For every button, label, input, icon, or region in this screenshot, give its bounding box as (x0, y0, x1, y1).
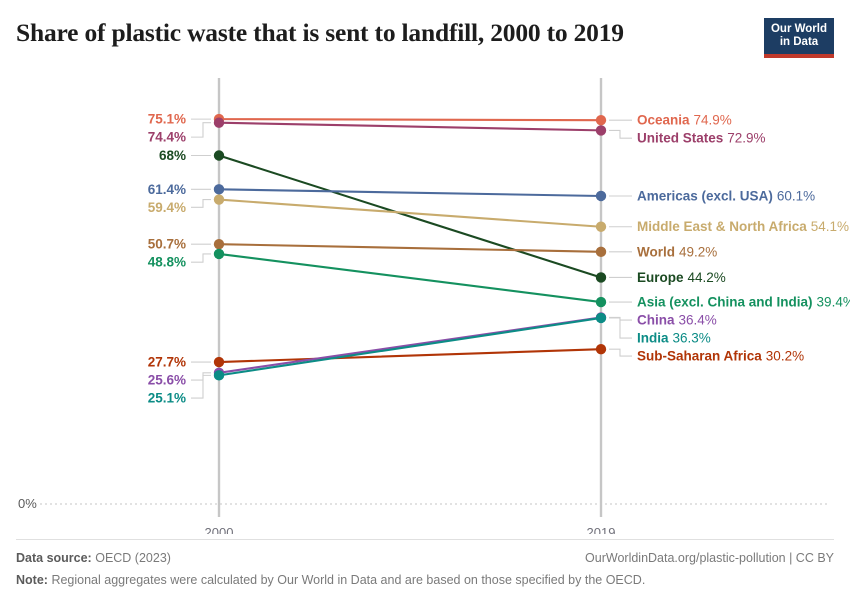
series-name: India (637, 331, 669, 346)
left-value-labels: 75.1%74.4%68%61.4%59.4%50.7%48.8%27.7%25… (148, 112, 211, 406)
series-value: 36.3% (673, 331, 711, 346)
series-value: 36.4% (679, 313, 717, 328)
right-series-label[interactable]: China36.4% (637, 313, 717, 328)
left-label-connector (191, 254, 211, 262)
series-name: Americas (excl. USA) (637, 188, 773, 203)
series-line-sub-saharan-africa[interactable] (219, 349, 601, 362)
data-source-label: Data source: (16, 551, 92, 565)
data-source: Data source: OECD (2023) (16, 548, 171, 568)
data-point-2019[interactable] (596, 125, 606, 135)
left-label-connector (191, 123, 211, 137)
series-lines-layer (219, 119, 601, 375)
chart-footer: Data source: OECD (2023) OurWorldinData.… (16, 539, 834, 590)
note-text: Regional aggregates were calculated by O… (51, 573, 645, 587)
series-value: 49.2% (679, 244, 717, 259)
left-label-connector (191, 375, 211, 398)
chart-root: Share of plastic waste that is sent to l… (0, 0, 850, 600)
series-name: Oceania (637, 113, 690, 128)
series-line-americas-excl-usa-[interactable] (219, 189, 601, 196)
left-value-label: 74.4% (148, 130, 186, 145)
right-series-label[interactable]: United States72.9% (637, 131, 766, 146)
left-value-label: 61.4% (148, 182, 186, 197)
data-point-2019[interactable] (596, 272, 606, 282)
series-line-middle-east-north-africa[interactable] (219, 200, 601, 227)
right-series-label[interactable]: Asia (excl. China and India)39.4% (637, 295, 850, 310)
right-label-connector (609, 318, 632, 338)
left-value-label: 25.6% (148, 373, 186, 388)
slope-chart-plot: 75.1%74.4%68%61.4%59.4%50.7%48.8%27.7%25… (0, 64, 850, 534)
series-line-world[interactable] (219, 244, 601, 252)
series-value: 44.2% (688, 270, 726, 285)
series-line-oceania[interactable] (219, 119, 601, 120)
data-point-2000[interactable] (214, 249, 224, 259)
page-title: Share of plastic waste that is sent to l… (16, 12, 834, 48)
slope-chart-svg: 75.1%74.4%68%61.4%59.4%50.7%48.8%27.7%25… (0, 64, 850, 534)
series-line-india[interactable] (219, 318, 601, 375)
series-name: Middle East & North Africa (637, 219, 807, 234)
data-point-2000[interactable] (214, 357, 224, 367)
data-point-2000[interactable] (214, 150, 224, 160)
right-series-label[interactable]: India36.3% (637, 331, 711, 346)
series-name: Europe (637, 270, 684, 285)
series-line-asia-excl-china-and-india-[interactable] (219, 254, 601, 302)
left-value-label: 59.4% (148, 200, 186, 215)
data-point-2019[interactable] (596, 115, 606, 125)
series-name: World (637, 244, 675, 259)
right-label-connector (609, 130, 632, 138)
right-series-label[interactable]: Middle East & North Africa54.1% (637, 219, 849, 234)
series-value: 39.4% (817, 295, 850, 310)
left-label-connector (191, 200, 211, 208)
left-value-label: 50.7% (148, 237, 186, 252)
data-point-2019[interactable] (596, 191, 606, 201)
owid-logo[interactable]: Our World in Data (764, 18, 834, 58)
data-point-2019[interactable] (596, 247, 606, 257)
left-value-label: 25.1% (148, 391, 186, 406)
data-source-value: OECD (2023) (95, 551, 171, 565)
axis-tick-labels: 0%20002019 (18, 496, 615, 534)
right-series-label[interactable]: Oceania74.9% (637, 113, 732, 128)
data-point-2019[interactable] (596, 344, 606, 354)
series-value: 74.9% (694, 113, 732, 128)
series-name: Sub-Saharan Africa (637, 349, 762, 364)
data-point-2019[interactable] (596, 313, 606, 323)
right-series-label[interactable]: Americas (excl. USA)60.1% (637, 188, 815, 203)
chart-note: Note: Regional aggregates were calculate… (16, 570, 645, 590)
y-axis-zero-label: 0% (18, 496, 37, 511)
right-series-labels: Oceania74.9%United States72.9%Europe44.2… (609, 113, 850, 364)
left-value-label: 48.8% (148, 255, 186, 270)
attribution-link[interactable]: OurWorldinData.org/plastic-pollution | C… (585, 548, 834, 568)
series-value: 60.1% (777, 188, 815, 203)
series-value: 30.2% (766, 349, 804, 364)
left-value-label: 75.1% (148, 112, 186, 127)
right-series-label[interactable]: World49.2% (637, 244, 717, 259)
data-point-2000[interactable] (214, 118, 224, 128)
x-tick-label-2019: 2019 (587, 525, 616, 534)
right-series-label[interactable]: Sub-Saharan Africa30.2% (637, 349, 804, 364)
data-point-2019[interactable] (596, 222, 606, 232)
data-point-2000[interactable] (214, 184, 224, 194)
series-value: 72.9% (727, 131, 765, 146)
left-value-label: 27.7% (148, 355, 186, 370)
series-name: Asia (excl. China and India) (637, 295, 813, 310)
series-value: 54.1% (811, 219, 849, 234)
note-label: Note: (16, 573, 48, 587)
data-point-2019[interactable] (596, 297, 606, 307)
left-value-label: 68% (159, 148, 186, 163)
data-point-2000[interactable] (214, 370, 224, 380)
series-name: United States (637, 131, 723, 146)
left-label-connector (191, 373, 211, 380)
series-line-europe[interactable] (219, 156, 601, 278)
owid-logo-line1: Our World (764, 23, 834, 36)
right-series-label[interactable]: Europe44.2% (637, 270, 726, 285)
footer-row-note: Note: Regional aggregates were calculate… (16, 570, 834, 590)
footer-row-source: Data source: OECD (2023) OurWorldinData.… (16, 548, 834, 568)
chart-header: Share of plastic waste that is sent to l… (16, 12, 834, 64)
data-point-2000[interactable] (214, 239, 224, 249)
data-point-2000[interactable] (214, 194, 224, 204)
right-label-connector (609, 349, 632, 356)
series-name: China (637, 313, 675, 328)
owid-logo-line2: in Data (764, 36, 834, 49)
x-tick-label-2000: 2000 (205, 525, 234, 534)
series-line-united-states[interactable] (219, 123, 601, 131)
